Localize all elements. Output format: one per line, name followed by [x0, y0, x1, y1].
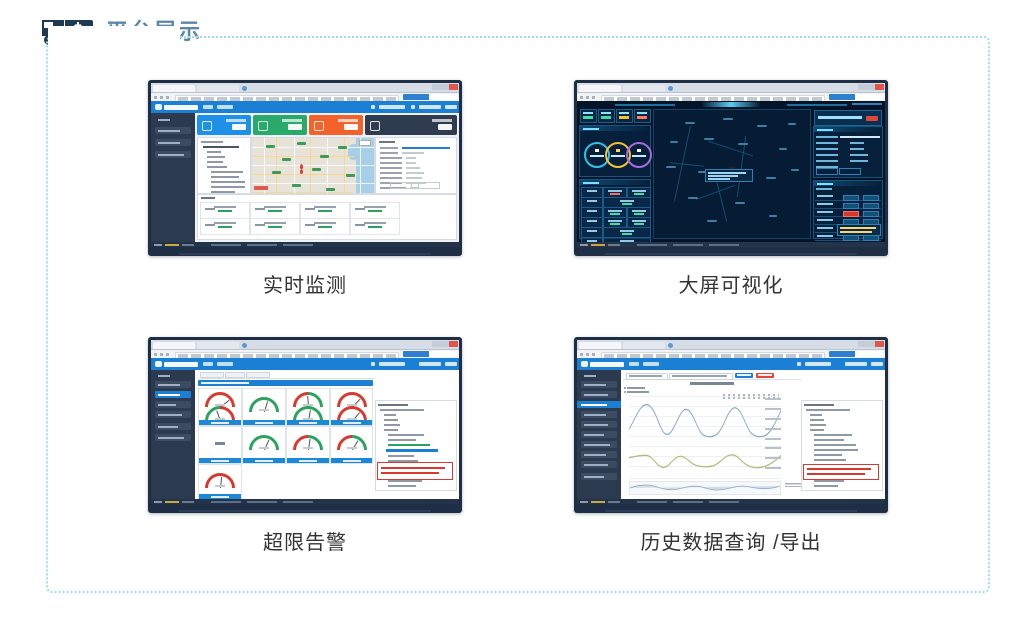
- device-tree-panel[interactable]: [801, 400, 883, 491]
- kpi-tile-alarm[interactable]: [309, 115, 363, 135]
- right-panel-column: [813, 109, 883, 239]
- showcase-card-history-query-export[interactable]: 历史数据查询 /导出: [542, 337, 920, 570]
- screenshot-realtime-monitoring: [151, 83, 459, 247]
- gauge-card[interactable]: [330, 426, 373, 464]
- gauge-card[interactable]: [286, 388, 330, 426]
- window-controls: [432, 341, 458, 347]
- app-logo-icon: [155, 104, 162, 110]
- os-taskbar: [151, 242, 459, 247]
- screenshot-history-query-export: [577, 340, 885, 504]
- browser-tab-strip: [577, 83, 885, 93]
- showcase-grid: 实时监测: [46, 80, 990, 570]
- showcase-card-realtime-monitoring[interactable]: 实时监测: [116, 80, 494, 313]
- sidebar-item-home[interactable]: [581, 372, 617, 379]
- frame-stand: [605, 253, 856, 255]
- browser-tab: [197, 85, 239, 92]
- gauge-grid: [198, 388, 373, 497]
- filter-chip[interactable]: [200, 372, 224, 378]
- map-legend: [254, 186, 268, 190]
- kpi-tile-normal[interactable]: [253, 115, 307, 135]
- nav-buttons-icon: [154, 353, 172, 356]
- map-marker-label: [266, 145, 275, 148]
- screenshot-over-limit-alarm: [151, 340, 459, 504]
- legend-marker: [624, 387, 626, 389]
- frame-stand: [605, 510, 856, 512]
- nav-item: [203, 362, 213, 366]
- map-marker-label: [297, 142, 306, 145]
- screenshot-frame: [574, 337, 888, 513]
- sidebar-item[interactable]: [581, 411, 617, 418]
- app-sidebar: [577, 370, 621, 499]
- filter-chip[interactable]: [225, 372, 245, 378]
- status-table-panel: [813, 180, 883, 239]
- app-brand-name: [164, 362, 198, 367]
- sidebar-item[interactable]: [581, 391, 617, 398]
- header-icon: [371, 362, 375, 366]
- gauge-alarm: [205, 406, 235, 421]
- chart-brush[interactable]: [629, 481, 781, 495]
- map-marker-label: [312, 168, 321, 171]
- gauge-alarm: [337, 392, 367, 407]
- header-icon: [797, 362, 801, 366]
- card-caption: 实时监测: [263, 269, 347, 298]
- nav-buttons-icon: [580, 353, 598, 356]
- header-icon: [371, 105, 375, 109]
- browser-tab: [579, 342, 621, 349]
- map-view[interactable]: [251, 137, 375, 194]
- os-taskbar: [577, 242, 885, 247]
- sidebar-item[interactable]: [155, 151, 191, 158]
- card-caption: 历史数据查询 /导出: [640, 526, 821, 555]
- os-taskbar: [151, 499, 459, 504]
- nav-item: [203, 105, 213, 109]
- data-grid-panel: [579, 179, 651, 239]
- map-marker-label: [338, 146, 347, 149]
- showcase-card-big-screen-visualization[interactable]: 大屏可视化: [542, 80, 920, 313]
- gauge-card[interactable]: [198, 464, 242, 500]
- sidebar-item-home[interactable]: [155, 372, 191, 379]
- sidebar-item-home[interactable]: [155, 116, 191, 123]
- device-tree-panel[interactable]: [197, 137, 251, 194]
- new-tab-icon: [242, 86, 247, 91]
- gauge-card[interactable]: [330, 388, 373, 426]
- browser-tab-strip: [151, 83, 459, 93]
- ring-chart: [626, 142, 652, 168]
- nav-item: [643, 362, 659, 366]
- sidebar-item[interactable]: [581, 461, 617, 468]
- chart-plot-area: [629, 396, 781, 479]
- alert-banner[interactable]: [814, 110, 882, 126]
- geo-map[interactable]: [653, 109, 811, 239]
- sidebar-item-active[interactable]: [155, 391, 191, 398]
- browser-tab: [579, 85, 621, 92]
- gauge-card[interactable]: [242, 426, 286, 464]
- sidebar-item[interactable]: [155, 381, 191, 388]
- legend-marker: [624, 391, 626, 393]
- detail-button-left[interactable]: [390, 182, 412, 189]
- new-tab-icon: [242, 343, 247, 348]
- nav-item: [217, 105, 233, 109]
- gauge-card[interactable]: [242, 388, 286, 426]
- sidebar-item[interactable]: [155, 423, 191, 430]
- table-row[interactable]: [815, 209, 881, 217]
- screenshot-frame: [574, 80, 888, 256]
- alarm-toast[interactable]: [377, 462, 453, 480]
- nav-buttons-icon: [580, 96, 598, 99]
- line-chart: [623, 380, 801, 497]
- stat-tile[interactable]: [598, 109, 615, 123]
- window-controls: [432, 84, 458, 90]
- gauge-alarm: [293, 392, 323, 407]
- frame-stand: [179, 253, 430, 255]
- alarm-banner[interactable]: [198, 380, 373, 386]
- new-tab-icon: [668, 343, 673, 348]
- frame-stand: [179, 510, 430, 512]
- header-user: [845, 362, 867, 366]
- sidebar-item[interactable]: [581, 473, 617, 480]
- app-header: [577, 358, 885, 370]
- stat-tile[interactable]: [634, 109, 651, 123]
- sidebar-item[interactable]: [581, 451, 617, 458]
- new-tab-icon: [668, 86, 673, 91]
- header-logout: [871, 362, 883, 366]
- browser-extensions: [403, 94, 457, 100]
- export-button[interactable]: [756, 373, 774, 378]
- alert-detail-panel: [813, 126, 883, 178]
- browser-tab: [153, 85, 195, 92]
- query-button[interactable]: [735, 373, 753, 378]
- table-row[interactable]: [815, 193, 881, 201]
- sidebar-item[interactable]: [581, 441, 617, 448]
- gauge-alarm: [337, 435, 367, 450]
- gauge-alarm: [205, 392, 235, 407]
- gauge-normal: [293, 406, 323, 421]
- header-menu: [379, 362, 405, 366]
- gauge-card-empty[interactable]: [198, 426, 242, 464]
- nav-item: [217, 362, 233, 366]
- window-controls: [858, 341, 884, 347]
- os-taskbar: [577, 499, 885, 504]
- detail-panel: [375, 137, 457, 194]
- screenshot-frame: [148, 80, 462, 256]
- gauge-alarm: [337, 406, 367, 421]
- legend-label: [627, 387, 645, 389]
- query-bar: [623, 370, 801, 380]
- dashboard-title: [701, 102, 761, 107]
- map-pin-icon: [300, 169, 303, 174]
- app-logo-icon: [155, 361, 162, 367]
- header-logout: [445, 362, 457, 366]
- app-content: [621, 370, 885, 499]
- header-menu: [379, 105, 405, 109]
- sidebar-item[interactable]: [581, 421, 617, 428]
- header-icon: [411, 105, 415, 109]
- chart-title: [690, 382, 734, 385]
- gauge-card[interactable]: [198, 388, 242, 426]
- gauge-alarm: [293, 435, 323, 450]
- browser-tab: [623, 342, 665, 349]
- date-range-input[interactable]: [669, 373, 733, 380]
- sidebar-item[interactable]: [581, 431, 617, 438]
- app-content: [195, 370, 459, 499]
- app-header: [151, 101, 459, 113]
- kpi-tile-offline[interactable]: [365, 115, 457, 135]
- browser-extensions: [829, 94, 883, 100]
- header-user: [419, 362, 441, 366]
- sidebar-item[interactable]: [155, 401, 191, 408]
- map-marker-label: [320, 155, 329, 158]
- card-caption: 超限告警: [263, 526, 347, 555]
- alert-action-button[interactable]: [816, 168, 838, 175]
- table-row[interactable]: [815, 201, 881, 209]
- browser-extensions: [829, 351, 883, 357]
- header-logout: [445, 105, 457, 109]
- nav-item: [629, 362, 639, 366]
- sidebar-item-active[interactable]: [577, 401, 621, 408]
- screenshot-frame: [148, 337, 462, 513]
- gauge-normal: [249, 435, 279, 450]
- screenshot-big-screen-visualization: [577, 83, 885, 247]
- sidebar-item[interactable]: [155, 139, 191, 146]
- gauge-normal: [249, 397, 279, 412]
- app-brand-name: [164, 105, 198, 110]
- filter-bar: [197, 370, 375, 379]
- chart-series-paths: [629, 396, 781, 479]
- app-sidebar: [151, 370, 195, 499]
- app-content: [195, 113, 459, 242]
- browser-tab: [197, 342, 239, 349]
- app-sidebar: [151, 113, 195, 242]
- app-logo-icon: [581, 361, 588, 367]
- sidebar-item[interactable]: [155, 434, 191, 441]
- alert-action-button[interactable]: [839, 168, 861, 175]
- left-panel-column: [579, 109, 651, 239]
- browser-tab: [623, 85, 665, 92]
- detail-button-right[interactable]: [418, 182, 440, 189]
- sidebar-item[interactable]: [155, 127, 191, 134]
- browser-tab: [153, 342, 195, 349]
- card-caption: 大屏可视化: [679, 269, 784, 298]
- sidebar-item[interactable]: [581, 381, 617, 388]
- browser-extensions: [403, 351, 457, 357]
- gauge-card[interactable]: [286, 426, 330, 464]
- nav-buttons-icon: [154, 96, 172, 99]
- app-brand-name: [590, 362, 624, 367]
- device-table: [197, 194, 457, 240]
- window-controls: [858, 84, 884, 90]
- kpi-tile-online[interactable]: [197, 115, 251, 135]
- browser-tab-strip: [577, 340, 885, 350]
- device-select[interactable]: [626, 373, 668, 380]
- header-user: [419, 105, 441, 109]
- map-tooltip: [705, 169, 753, 182]
- app-header: [151, 358, 459, 370]
- map-zoom-control[interactable]: [359, 140, 371, 146]
- filter-chip[interactable]: [246, 372, 270, 378]
- map-marker-label: [292, 184, 301, 187]
- ring-chart-panel: [579, 125, 651, 177]
- legend-label: [627, 391, 649, 393]
- bi-dashboard: [577, 101, 885, 242]
- map-marker-label: [346, 174, 355, 177]
- map-marker-label: [326, 188, 335, 191]
- gauge-alarm: [205, 473, 235, 488]
- map-marker-label: [272, 171, 281, 174]
- status-tooltip: [837, 224, 881, 236]
- frame-notch: [48, 26, 180, 48]
- stat-tile[interactable]: [616, 109, 633, 123]
- browser-tab-strip: [151, 340, 459, 350]
- map-marker-label: [282, 158, 291, 161]
- device-tree-panel[interactable]: [375, 400, 457, 491]
- showcase-card-over-limit-alarm[interactable]: 超限告警: [116, 337, 494, 570]
- header-menu: [805, 362, 831, 366]
- stat-tile[interactable]: [580, 109, 597, 123]
- alarm-toast[interactable]: [803, 464, 879, 480]
- sidebar-item[interactable]: [155, 411, 191, 418]
